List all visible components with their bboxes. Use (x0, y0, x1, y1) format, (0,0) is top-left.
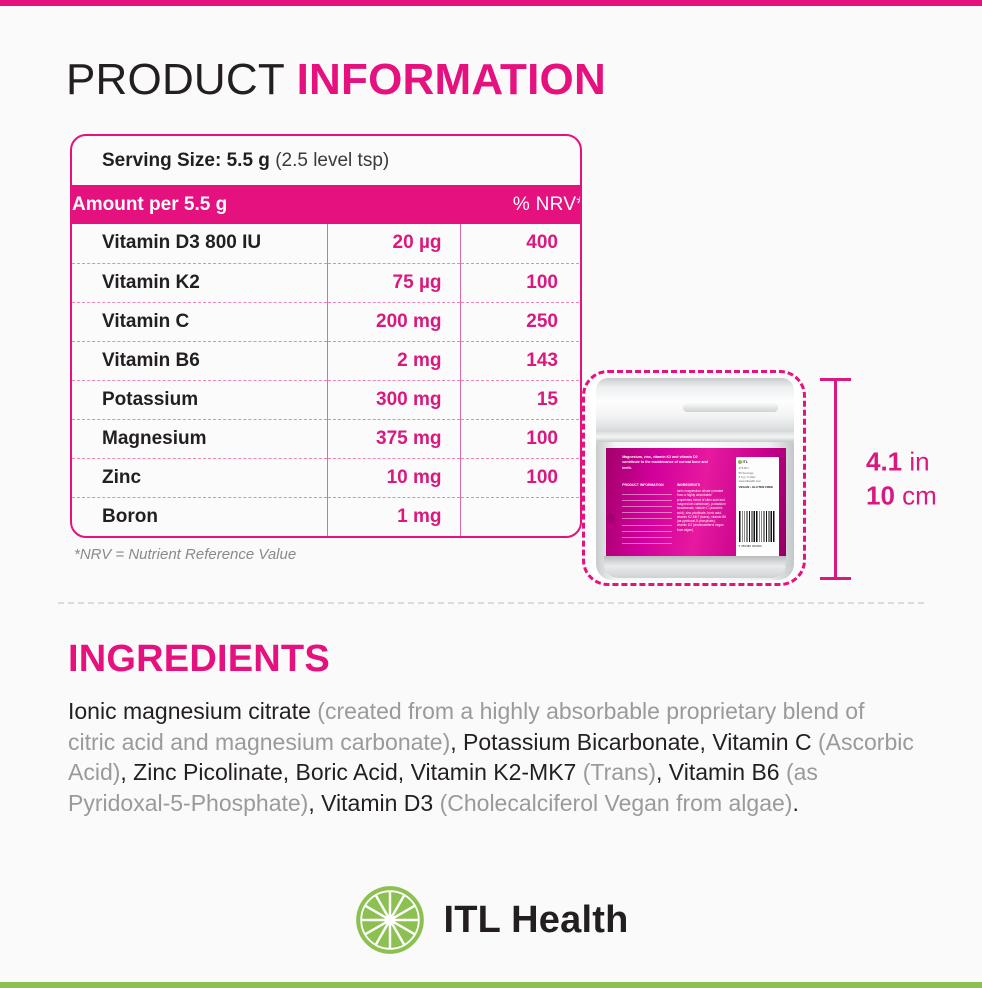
ingredient-segment: , Vitamin D3 (308, 790, 439, 816)
product-jar-figure: Magnesium, zinc, vitamin K2 and vitamin … (590, 378, 800, 580)
table-row: Magnesium375 mg100 (72, 419, 582, 458)
ingredient-segment: , Potassium Bicarbonate, Vitamin C (450, 729, 818, 755)
nutrient-amount: 1 mg (327, 497, 460, 536)
nutrient-amount: 20 µg (327, 224, 460, 263)
nutrient-amount: 2 mg (327, 341, 460, 380)
nutrient-name: Potassium (72, 380, 327, 419)
dimension-inches: 4.1 in (866, 445, 937, 479)
jar-lid-seam (596, 432, 794, 442)
jar-label-col1-title: PRODUCT INFORMATION (622, 483, 672, 488)
jar-label-col-ingredients: INGREDIENTS Ionic magnesium citrate (cre… (677, 483, 727, 543)
ingredient-segment: . (792, 790, 798, 816)
jar-base (604, 556, 786, 578)
jar-label-left-edge (606, 514, 615, 528)
page-title-light: PRODUCT (66, 55, 284, 104)
jar-side-brand: ITL (736, 457, 779, 464)
table-row: Vitamin B62 mg143 (72, 341, 582, 380)
nutrient-nrv: 15 (460, 380, 582, 419)
nutrition-table-body: Vitamin D3 800 IU20 µg400Vitamin K275 µg… (72, 224, 582, 536)
table-header-row: Amount per 5.5 g % NRV* (72, 185, 582, 224)
nutrient-name: Zinc (72, 458, 327, 497)
bottom-accent-rule (0, 982, 982, 988)
jar-label-columns: PRODUCT INFORMATION (622, 483, 726, 543)
jar-label-col2-body: Ionic magnesium citrate (created from a … (677, 489, 726, 532)
nutrient-nrv: 100 (460, 263, 582, 302)
nutrient-name: Boron (72, 497, 327, 536)
nutrient-amount: 200 mg (327, 302, 460, 341)
dimension-cm-unit: cm (902, 481, 937, 511)
ingredients-body: Ionic magnesium citrate (created from a … (68, 696, 918, 818)
nutrient-nrv: 250 (460, 302, 582, 341)
dimension-line (834, 378, 837, 580)
nutrient-nrv (460, 497, 582, 536)
page-title-bold: INFORMATION (297, 55, 606, 104)
ingredient-segment: (Trans) (583, 759, 656, 785)
table-row: Boron1 mg (72, 497, 582, 536)
col-header-name: Amount per 5.5 g (72, 185, 327, 224)
nutrient-name: Vitamin B6 (72, 341, 327, 380)
sunburst-logo-icon (354, 884, 426, 956)
jar-body: Magnesium, zinc, vitamin K2 and vitamin … (596, 440, 794, 580)
product-information-page: PRODUCT INFORMATION Serving Size: 5.5 g … (0, 0, 982, 988)
brand-logo: ITL Health (0, 884, 982, 956)
ingredient-segment: , Vitamin B6 (656, 759, 786, 785)
page-title: PRODUCT INFORMATION (66, 58, 606, 102)
nutrition-table: Amount per 5.5 g % NRV* Vitamin D3 800 I… (72, 185, 582, 536)
nutrient-nrv: 143 (460, 341, 582, 380)
dimension-inches-value: 4.1 (866, 447, 902, 477)
col-header-nrv: % NRV* (460, 185, 582, 224)
ingredient-segment: Ionic magnesium citrate (68, 698, 317, 724)
jar-side-sub: 275.8ml50 Servings5.5 g / 0.19ozwww.itlh… (736, 464, 779, 483)
barcode-icon (739, 511, 776, 541)
table-row: Vitamin D3 800 IU20 µg400 (72, 224, 582, 263)
jar-label-mini-table (622, 489, 672, 544)
dimension-cap-bottom (820, 577, 851, 580)
ingredient-segment: (Cholecalciferol Vegan from algae) (440, 790, 793, 816)
jar-label-side-panel: ITL 275.8ml50 Servings5.5 g / 0.19ozwww.… (736, 457, 779, 558)
table-row: Vitamin C200 mg250 (72, 302, 582, 341)
jar-lid (596, 378, 794, 440)
nutrient-name: Vitamin C (72, 302, 327, 341)
product-jar: Magnesium, zinc, vitamin K2 and vitamin … (590, 378, 800, 580)
serving-size-label: Serving Size: 5.5 g (102, 150, 270, 171)
jar-label-headline: Magnesium, zinc, vitamin K2 and vitamin … (622, 455, 716, 471)
barcode-number: 5 056480 000000 (739, 545, 762, 548)
nutrient-amount: 375 mg (327, 419, 460, 458)
table-row: Potassium300 mg15 (72, 380, 582, 419)
nutrient-name: Vitamin K2 (72, 263, 327, 302)
jar-label-col2-title: INGREDIENTS (677, 483, 727, 488)
nutrition-table-head: Amount per 5.5 g % NRV* (72, 185, 582, 224)
jar-label-col-product-info: PRODUCT INFORMATION (622, 483, 672, 543)
dimension-inches-unit: in (909, 447, 929, 477)
nutrient-nrv: 400 (460, 224, 582, 263)
ingredients-title: INGREDIENTS (68, 638, 330, 681)
nutrient-name: Vitamin D3 800 IU (72, 224, 327, 263)
brand-name: ITL Health (444, 899, 629, 942)
nutrient-nrv: 100 (460, 458, 582, 497)
nutrition-panel: Serving Size: 5.5 g (2.5 level tsp) Amou… (70, 134, 582, 538)
page-content: PRODUCT INFORMATION Serving Size: 5.5 g … (0, 6, 982, 982)
jar-label: Magnesium, zinc, vitamin K2 and vitamin … (606, 448, 786, 566)
col-header-amount (327, 185, 460, 224)
nutrient-amount: 300 mg (327, 380, 460, 419)
table-row: Vitamin K275 µg100 (72, 263, 582, 302)
dimension-text: 4.1 in 10 cm (866, 445, 937, 514)
dimension-cm-value: 10 (866, 481, 895, 511)
nutrient-amount: 75 µg (327, 263, 460, 302)
dimension-cm: 10 cm (866, 479, 937, 513)
serving-size-detail: (2.5 level tsp) (275, 150, 389, 171)
nutrient-name: Magnesium (72, 419, 327, 458)
nutrient-amount: 10 mg (327, 458, 460, 497)
ingredient-segment: , Zinc Picolinate, Boric Acid, Vitamin K… (120, 759, 582, 785)
jar-side-vegan: VEGAN • GLUTEN FREE (736, 483, 779, 489)
nrv-footnote: *NRV = Nutrient Reference Value (74, 546, 296, 563)
serving-size-row: Serving Size: 5.5 g (2.5 level tsp) (72, 136, 580, 185)
dimension-callout: 4.1 in 10 cm (820, 378, 960, 580)
table-row: Zinc10 mg100 (72, 458, 582, 497)
section-divider (58, 602, 924, 604)
nutrient-nrv: 100 (460, 419, 582, 458)
